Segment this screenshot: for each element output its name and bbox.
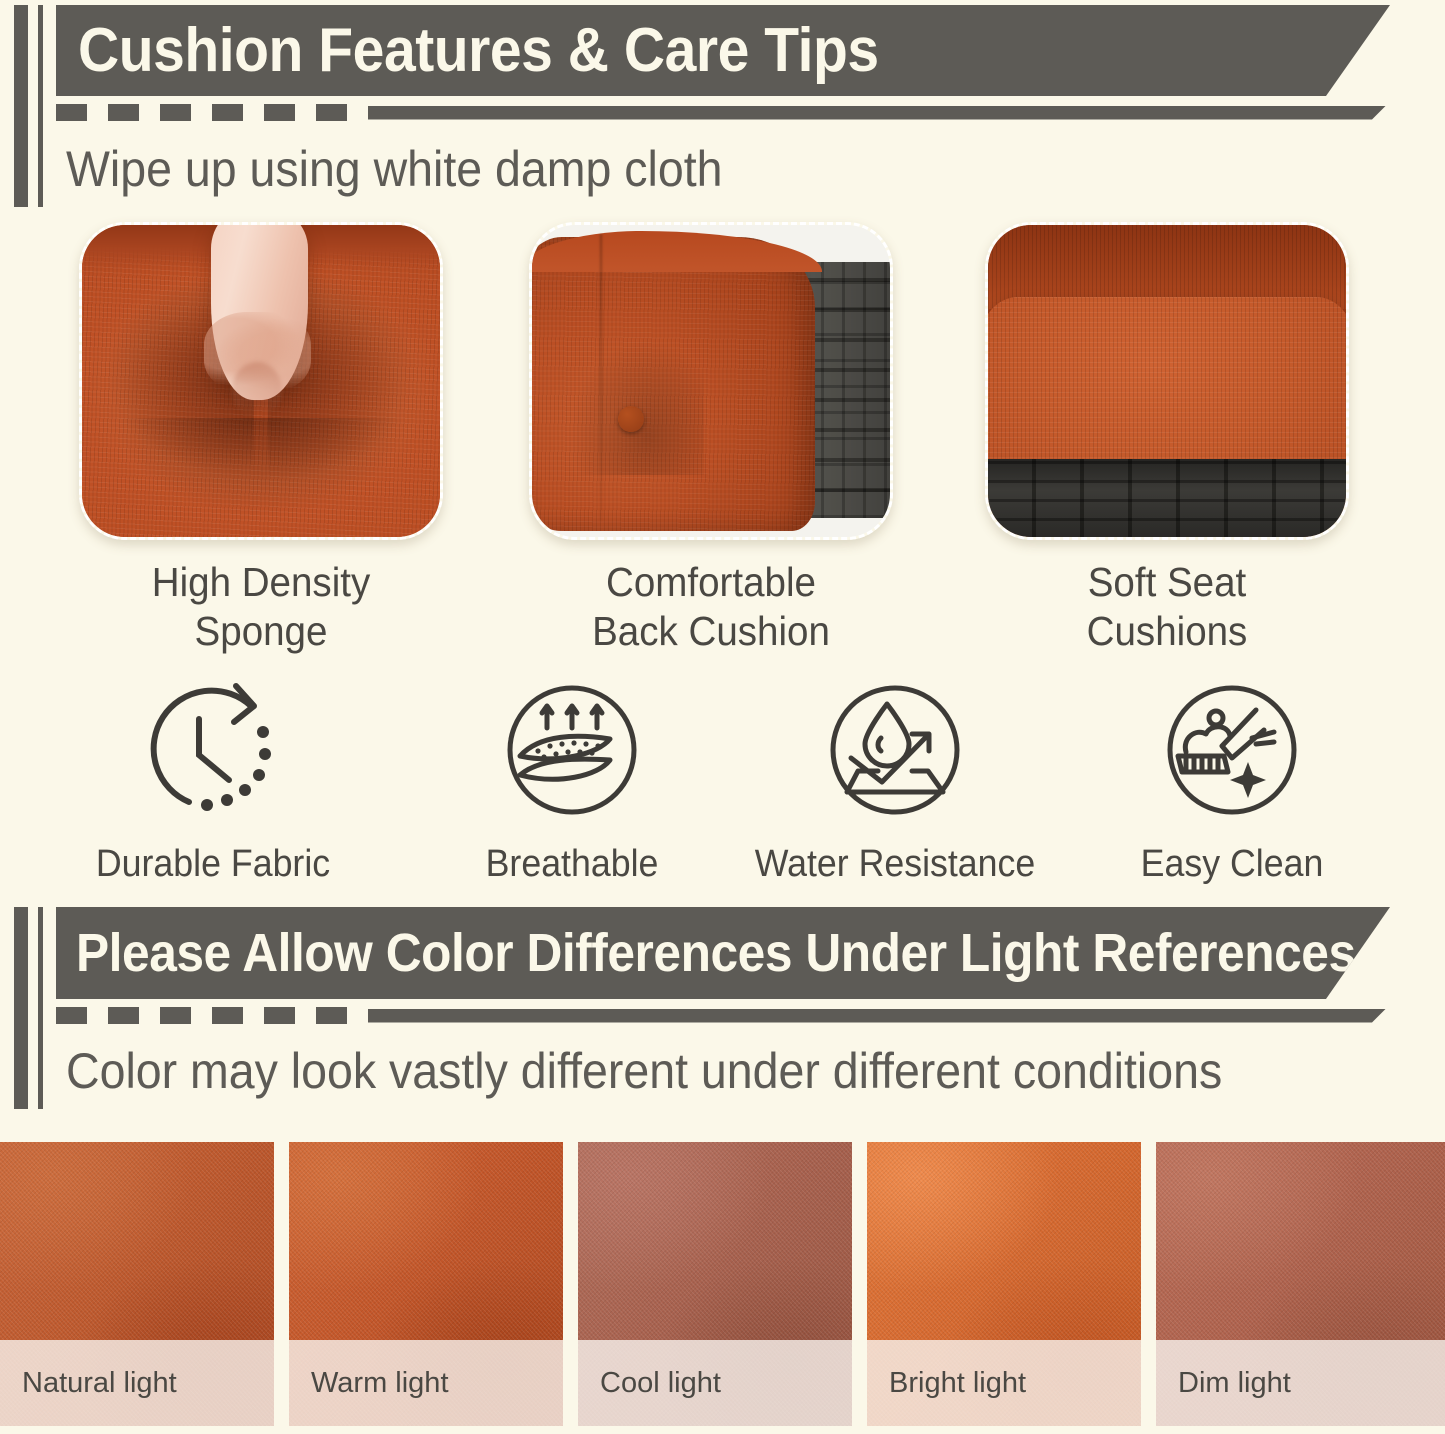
rule-bar-thin (38, 5, 43, 207)
section-two-banner-title: Please Allow Color Differences Under Lig… (76, 922, 1356, 984)
swatch-label: Warm light (289, 1367, 449, 1400)
hand-brush-sparkle-icon (1152, 672, 1312, 832)
divider-dash (264, 104, 295, 121)
rule-bar-thin (38, 907, 43, 1109)
feature-photo-caption: Comfortable Back Cushion (540, 558, 882, 656)
caption-line-1: Soft Seat (996, 558, 1338, 607)
water-droplet-repel-icon (815, 672, 975, 832)
divider-dash (56, 104, 87, 121)
divider-dash (316, 104, 347, 121)
feature-photo-card[interactable]: High Density Sponge (79, 222, 443, 656)
color-differences-section: Please Allow Color Differences Under Lig… (0, 900, 1445, 1434)
feature-photo-card[interactable]: Soft Seat Cushions (985, 222, 1349, 656)
section-two-divider (56, 1007, 1386, 1024)
caption-line-2: Cushions (996, 607, 1338, 656)
feature-icon-label: Breathable (431, 842, 713, 886)
swatch-label-band: Natural light (0, 1340, 274, 1426)
feature-photo-card[interactable]: Comfortable Back Cushion (529, 222, 893, 656)
color-swatch-cool-light[interactable]: Cool light (578, 1142, 852, 1426)
color-swatch-bright-light[interactable]: Bright light (867, 1142, 1141, 1426)
swatch-label: Natural light (0, 1367, 177, 1400)
seat-cushion-on-wicker-photo (985, 222, 1349, 540)
breathable-fabric-icon (492, 672, 652, 832)
clock-arrow-icon (123, 672, 303, 832)
color-swatch-row: Natural light Warm light Cool light Brig… (0, 1142, 1445, 1434)
swatch-label-band: Dim light (1156, 1340, 1445, 1426)
feature-photo-row: High Density Sponge Comfortable Back Cus… (0, 222, 1445, 642)
hand-pressing-cushion-photo (79, 222, 443, 540)
caption-line-1: High Density (90, 558, 432, 607)
feature-icon-label: Durable Fabric (72, 842, 354, 886)
divider-dash (108, 104, 139, 121)
color-swatch-natural-light[interactable]: Natural light (0, 1142, 274, 1426)
back-cushion-closeup-photo (529, 222, 893, 540)
divider-dash (108, 1007, 139, 1024)
swatch-label: Dim light (1156, 1367, 1291, 1400)
feature-icon-label: Easy Clean (1091, 842, 1373, 886)
divider-dash (212, 104, 243, 121)
divider-dash (264, 1007, 295, 1024)
section-two-subtitle: Color may look vastly different under di… (66, 1042, 1222, 1100)
divider-dash (160, 1007, 191, 1024)
divider-solid-line (368, 106, 1386, 120)
color-swatch-warm-light[interactable]: Warm light (289, 1142, 563, 1426)
cushion-features-section: Cushion Features & Care Tips Wipe up usi… (0, 0, 1445, 900)
caption-line-1: Comfortable (540, 558, 882, 607)
feature-icon-label: Water Resistance (754, 842, 1036, 886)
section-one-subtitle: Wipe up using white damp cloth (66, 140, 723, 198)
rule-bar-thick (14, 907, 28, 1109)
divider-dash (160, 104, 191, 121)
section-one-divider (56, 104, 1386, 121)
swatch-label: Bright light (867, 1367, 1026, 1400)
feature-icon-row: Durable Fabric (0, 672, 1445, 892)
swatch-label-band: Cool light (578, 1340, 852, 1426)
swatch-label-band: Warm light (289, 1340, 563, 1426)
feature-item-easy-clean[interactable]: Easy Clean (1082, 672, 1382, 886)
rule-bar-thick (14, 5, 28, 207)
section-two-banner: Please Allow Color Differences Under Lig… (56, 907, 1390, 999)
section-one-banner-title: Cushion Features & Care Tips (78, 15, 879, 86)
divider-dash (212, 1007, 243, 1024)
feature-photo-caption: High Density Sponge (90, 558, 432, 656)
divider-dash (316, 1007, 347, 1024)
feature-photo-caption: Soft Seat Cushions (996, 558, 1338, 656)
divider-solid-line (368, 1009, 1386, 1023)
caption-line-2: Sponge (90, 607, 432, 656)
swatch-label: Cool light (578, 1367, 721, 1400)
caption-line-2: Back Cushion (540, 607, 882, 656)
divider-dash (56, 1007, 87, 1024)
swatch-label-band: Bright light (867, 1340, 1141, 1426)
feature-item-durable-fabric[interactable]: Durable Fabric (63, 672, 363, 886)
color-swatch-dim-light[interactable]: Dim light (1156, 1142, 1445, 1426)
feature-item-breathable[interactable]: Breathable (422, 672, 722, 886)
feature-item-water-resistance[interactable]: Water Resistance (745, 672, 1045, 886)
section-one-banner: Cushion Features & Care Tips (56, 5, 1390, 96)
